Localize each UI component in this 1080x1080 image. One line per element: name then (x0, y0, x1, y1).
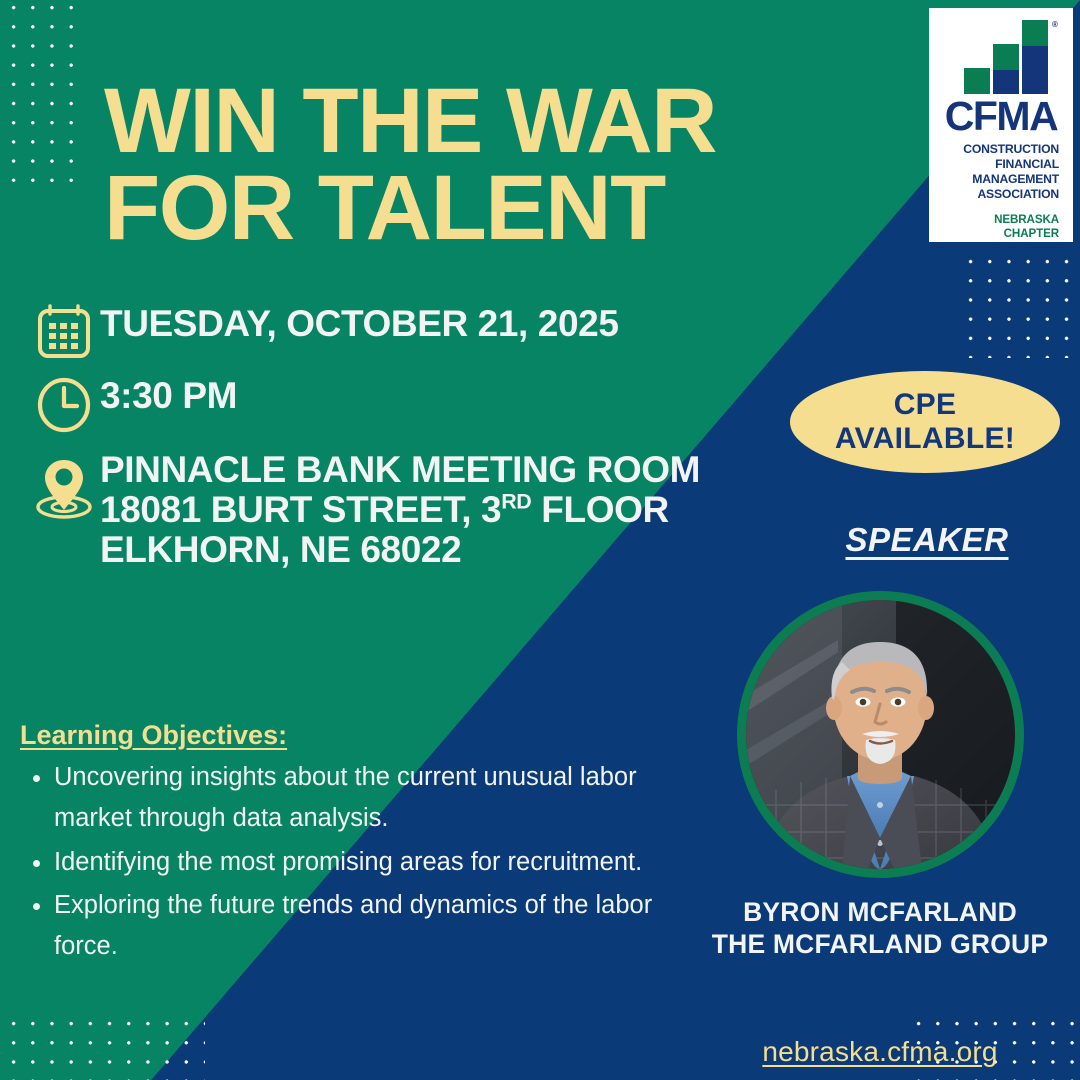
calendar-icon (28, 300, 100, 360)
location-line-3: ELKHORN, NE 68022 (100, 530, 700, 570)
clock-icon (28, 372, 100, 434)
headline-line-2: FOR TALENT (104, 165, 824, 252)
event-location-row: PINNACLE BANK MEETING ROOM 18081 BURT ST… (28, 446, 768, 570)
list-item: Identifying the most promising areas for… (54, 842, 660, 883)
event-time: 3:30 PM (100, 372, 237, 416)
cfma-logo: ® CFMA CONSTRUCTION FINANCIAL MANAGEMENT… (929, 8, 1073, 242)
map-pin-icon (28, 446, 100, 522)
cfma-org-line-4: ASSOCIATION (943, 187, 1059, 202)
speaker-name-block: BYRON MCFARLAND THE MCFARLAND GROUP (690, 896, 1070, 961)
learning-objectives-list: Uncovering insights about the current un… (20, 757, 660, 967)
speaker-headshot-illustration (746, 600, 1015, 869)
location-line-1: PINNACLE BANK MEETING ROOM (100, 450, 700, 490)
cfma-chapter-name: NEBRASKA CHAPTER (943, 213, 1059, 242)
cfma-logo-mark-icon: ® (964, 20, 1052, 94)
speaker-name: BYRON MCFARLAND (690, 896, 1070, 928)
speaker-section-label: SPEAKER (792, 521, 1062, 559)
learning-objectives-title: Learning Objectives: (20, 720, 660, 751)
cfma-org-line-2: FINANCIAL (943, 157, 1059, 172)
cpe-available-badge: CPE AVAILABLE! (790, 371, 1060, 473)
speaker-company: THE MCFARLAND GROUP (690, 928, 1070, 960)
cfma-chapter-line-2: CHAPTER (943, 227, 1059, 241)
event-time-row: 3:30 PM (28, 372, 768, 434)
website-link[interactable]: nebraska.cfma.org (690, 1036, 1070, 1068)
list-item: Exploring the future trends and dynamics… (54, 885, 660, 968)
event-date: TUESDAY, OCTOBER 21, 2025 (100, 300, 619, 344)
cfma-org-name: CONSTRUCTION FINANCIAL MANAGEMENT ASSOCI… (943, 142, 1059, 202)
location-street: 18081 BURT STREET, 3 (100, 489, 501, 530)
cpe-badge-line-1: CPE (894, 388, 957, 422)
cfma-org-line-1: CONSTRUCTION (943, 142, 1059, 157)
learning-objectives-section: Learning Objectives: Uncovering insights… (20, 720, 660, 969)
headline-line-1: WIN THE WAR (104, 78, 824, 165)
event-headline: WIN THE WAR FOR TALENT (104, 78, 824, 253)
cfma-wordmark: CFMA (945, 96, 1057, 137)
cpe-badge-line-2: AVAILABLE! (835, 422, 1015, 456)
event-date-row: TUESDAY, OCTOBER 21, 2025 (28, 300, 768, 360)
location-ordinal-suffix: RD (501, 490, 531, 514)
avatar (746, 600, 1015, 869)
event-flyer: ® CFMA CONSTRUCTION FINANCIAL MANAGEMENT… (0, 0, 1080, 1080)
registered-trademark-icon: ® (1052, 20, 1058, 29)
cfma-org-line-3: MANAGEMENT (943, 172, 1059, 187)
location-floor: FLOOR (531, 489, 668, 530)
location-line-2: 18081 BURT STREET, 3RD FLOOR (100, 490, 700, 530)
speaker-photo-frame (737, 591, 1024, 878)
event-location: PINNACLE BANK MEETING ROOM 18081 BURT ST… (100, 446, 700, 570)
cfma-chapter-line-1: NEBRASKA (943, 213, 1059, 227)
list-item: Uncovering insights about the current un… (54, 757, 660, 840)
event-details: TUESDAY, OCTOBER 21, 2025 3:30 PM (28, 300, 768, 582)
